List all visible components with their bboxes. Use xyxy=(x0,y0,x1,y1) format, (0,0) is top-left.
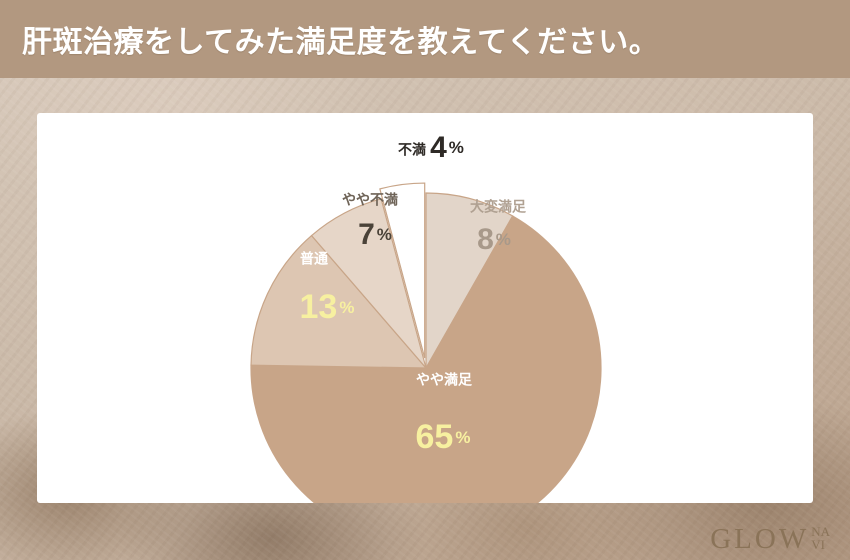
slice-label-value-4: 4% xyxy=(430,131,464,164)
brand-logo: GLOW NA VI xyxy=(710,525,830,554)
page-title: 肝斑治療をしてみた満足度を教えてください。 xyxy=(22,17,659,61)
brand-logo-mark-bottom: VI xyxy=(811,537,825,552)
slice-label-name-4: 不満 xyxy=(398,142,426,158)
brand-logo-mark: NA VI xyxy=(811,525,830,554)
slice-label-name-2: 普通 xyxy=(300,251,328,267)
pie-chart: 大変満足8%やや満足65%普通13%やや不満7%不満4% xyxy=(37,113,813,503)
chart-card: 大変満足8%やや満足65%普通13%やや不満7%不満4% xyxy=(37,113,813,503)
pie-chart-svg: 大変満足8%やや満足65%普通13%やや不満7%不満4% xyxy=(37,113,813,503)
slice-label-name-3: やや不満 xyxy=(342,192,398,208)
header-band: 肝斑治療をしてみた満足度を教えてください。 xyxy=(0,0,850,78)
slice-label-name-1: やや満足 xyxy=(416,372,473,388)
slice-label-name-0: 大変満足 xyxy=(470,199,527,215)
brand-logo-text: GLOW xyxy=(710,525,809,554)
